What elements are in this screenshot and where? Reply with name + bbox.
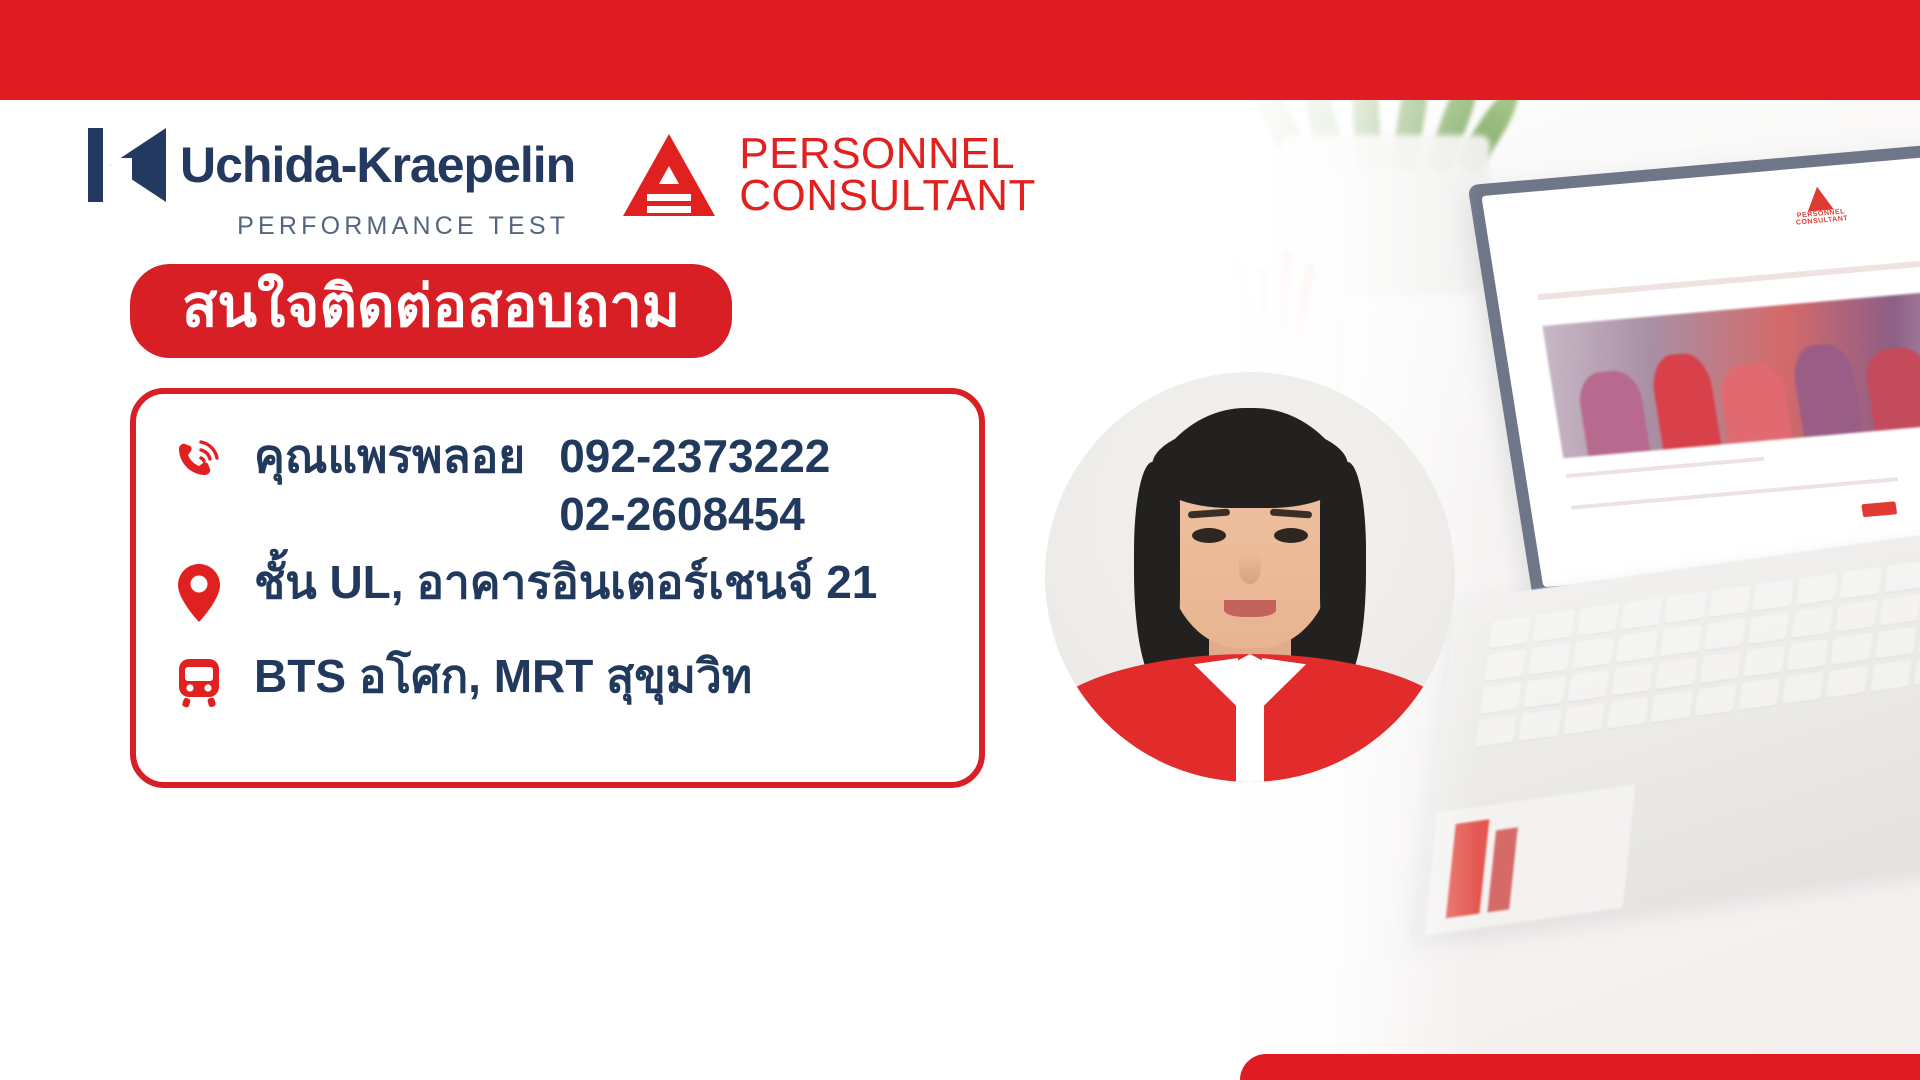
contact-row-address: ชั้น UL, อาคารอินเตอร์เชนจ์ 21: [170, 554, 979, 624]
phone-number-office[interactable]: 02-2608454: [559, 486, 830, 542]
laptop-lid: PERSONNEL CONSULTANT: [1468, 140, 1920, 600]
laptop-screen-navbar: [1537, 258, 1920, 300]
portrait-eye-right: [1274, 528, 1308, 543]
avatar: [1045, 372, 1455, 782]
laptop-screen-form-label: [1566, 457, 1765, 478]
laptop-screen-apply-button: [1862, 501, 1898, 517]
phone-number-mobile[interactable]: 092-2373222: [559, 428, 830, 484]
uchida-kraepelin-name: Uchida-Kraepelin: [180, 140, 575, 190]
address-text: ชั้น UL, อาคารอินเตอร์เชนจ์ 21: [254, 554, 877, 610]
laptop-screen-hero-image: [1542, 289, 1920, 458]
personnel-consultant-logo: PERSONNEL CONSULTANT: [621, 128, 1036, 218]
portrait-hair-right: [1320, 462, 1366, 682]
transit-text: BTS อโศก, MRT สุขุมวิท: [254, 648, 752, 704]
portrait-nose: [1239, 554, 1261, 584]
laptop-screen: PERSONNEL CONSULTANT: [1481, 153, 1920, 587]
top-red-bar: [0, 0, 1920, 100]
contact-row-phone: คุณแพรพลอย 092-2373222 02-2608454: [170, 428, 979, 542]
contact-person-name: คุณแพรพลอย: [254, 428, 525, 484]
laptop-screen-logo-icon: PERSONNEL CONSULTANT: [1772, 183, 1867, 224]
train-icon: [170, 648, 228, 710]
bottom-red-accent: [1240, 1054, 1920, 1080]
contact-card: คุณแพรพลอย 092-2373222 02-2608454 ชั้น U…: [130, 388, 985, 788]
portrait-eye-left: [1192, 528, 1226, 543]
uchida-kraepelin-logo: Uchida-Kraepelin PERFORMANCE TEST: [88, 128, 575, 241]
logo-row: Uchida-Kraepelin PERFORMANCE TEST PERSON…: [88, 128, 1036, 241]
portrait-mouth: [1224, 600, 1276, 617]
contact-row-transit: BTS อโศก, MRT สุขุมวิท: [170, 648, 979, 710]
personnel-consultant-name: PERSONNEL CONSULTANT: [739, 133, 1036, 217]
portrait-hair-left: [1134, 462, 1180, 682]
uchida-k-mark-icon: [88, 128, 166, 202]
pc-line2: CONSULTANT: [739, 171, 1036, 220]
laptop-screen-form-field: [1571, 477, 1899, 510]
laptop-screen-logo-text: PERSONNEL CONSULTANT: [1775, 206, 1867, 228]
uchida-kraepelin-subtitle: PERFORMANCE TEST: [237, 212, 575, 241]
location-pin-icon: [170, 554, 228, 624]
ae-triangle-logo-icon: [621, 132, 717, 218]
page-title: สนใจติดต่อสอบถาม: [130, 264, 732, 358]
phone-ringing-icon: [170, 428, 228, 492]
portrait-hair-front: [1152, 424, 1348, 508]
